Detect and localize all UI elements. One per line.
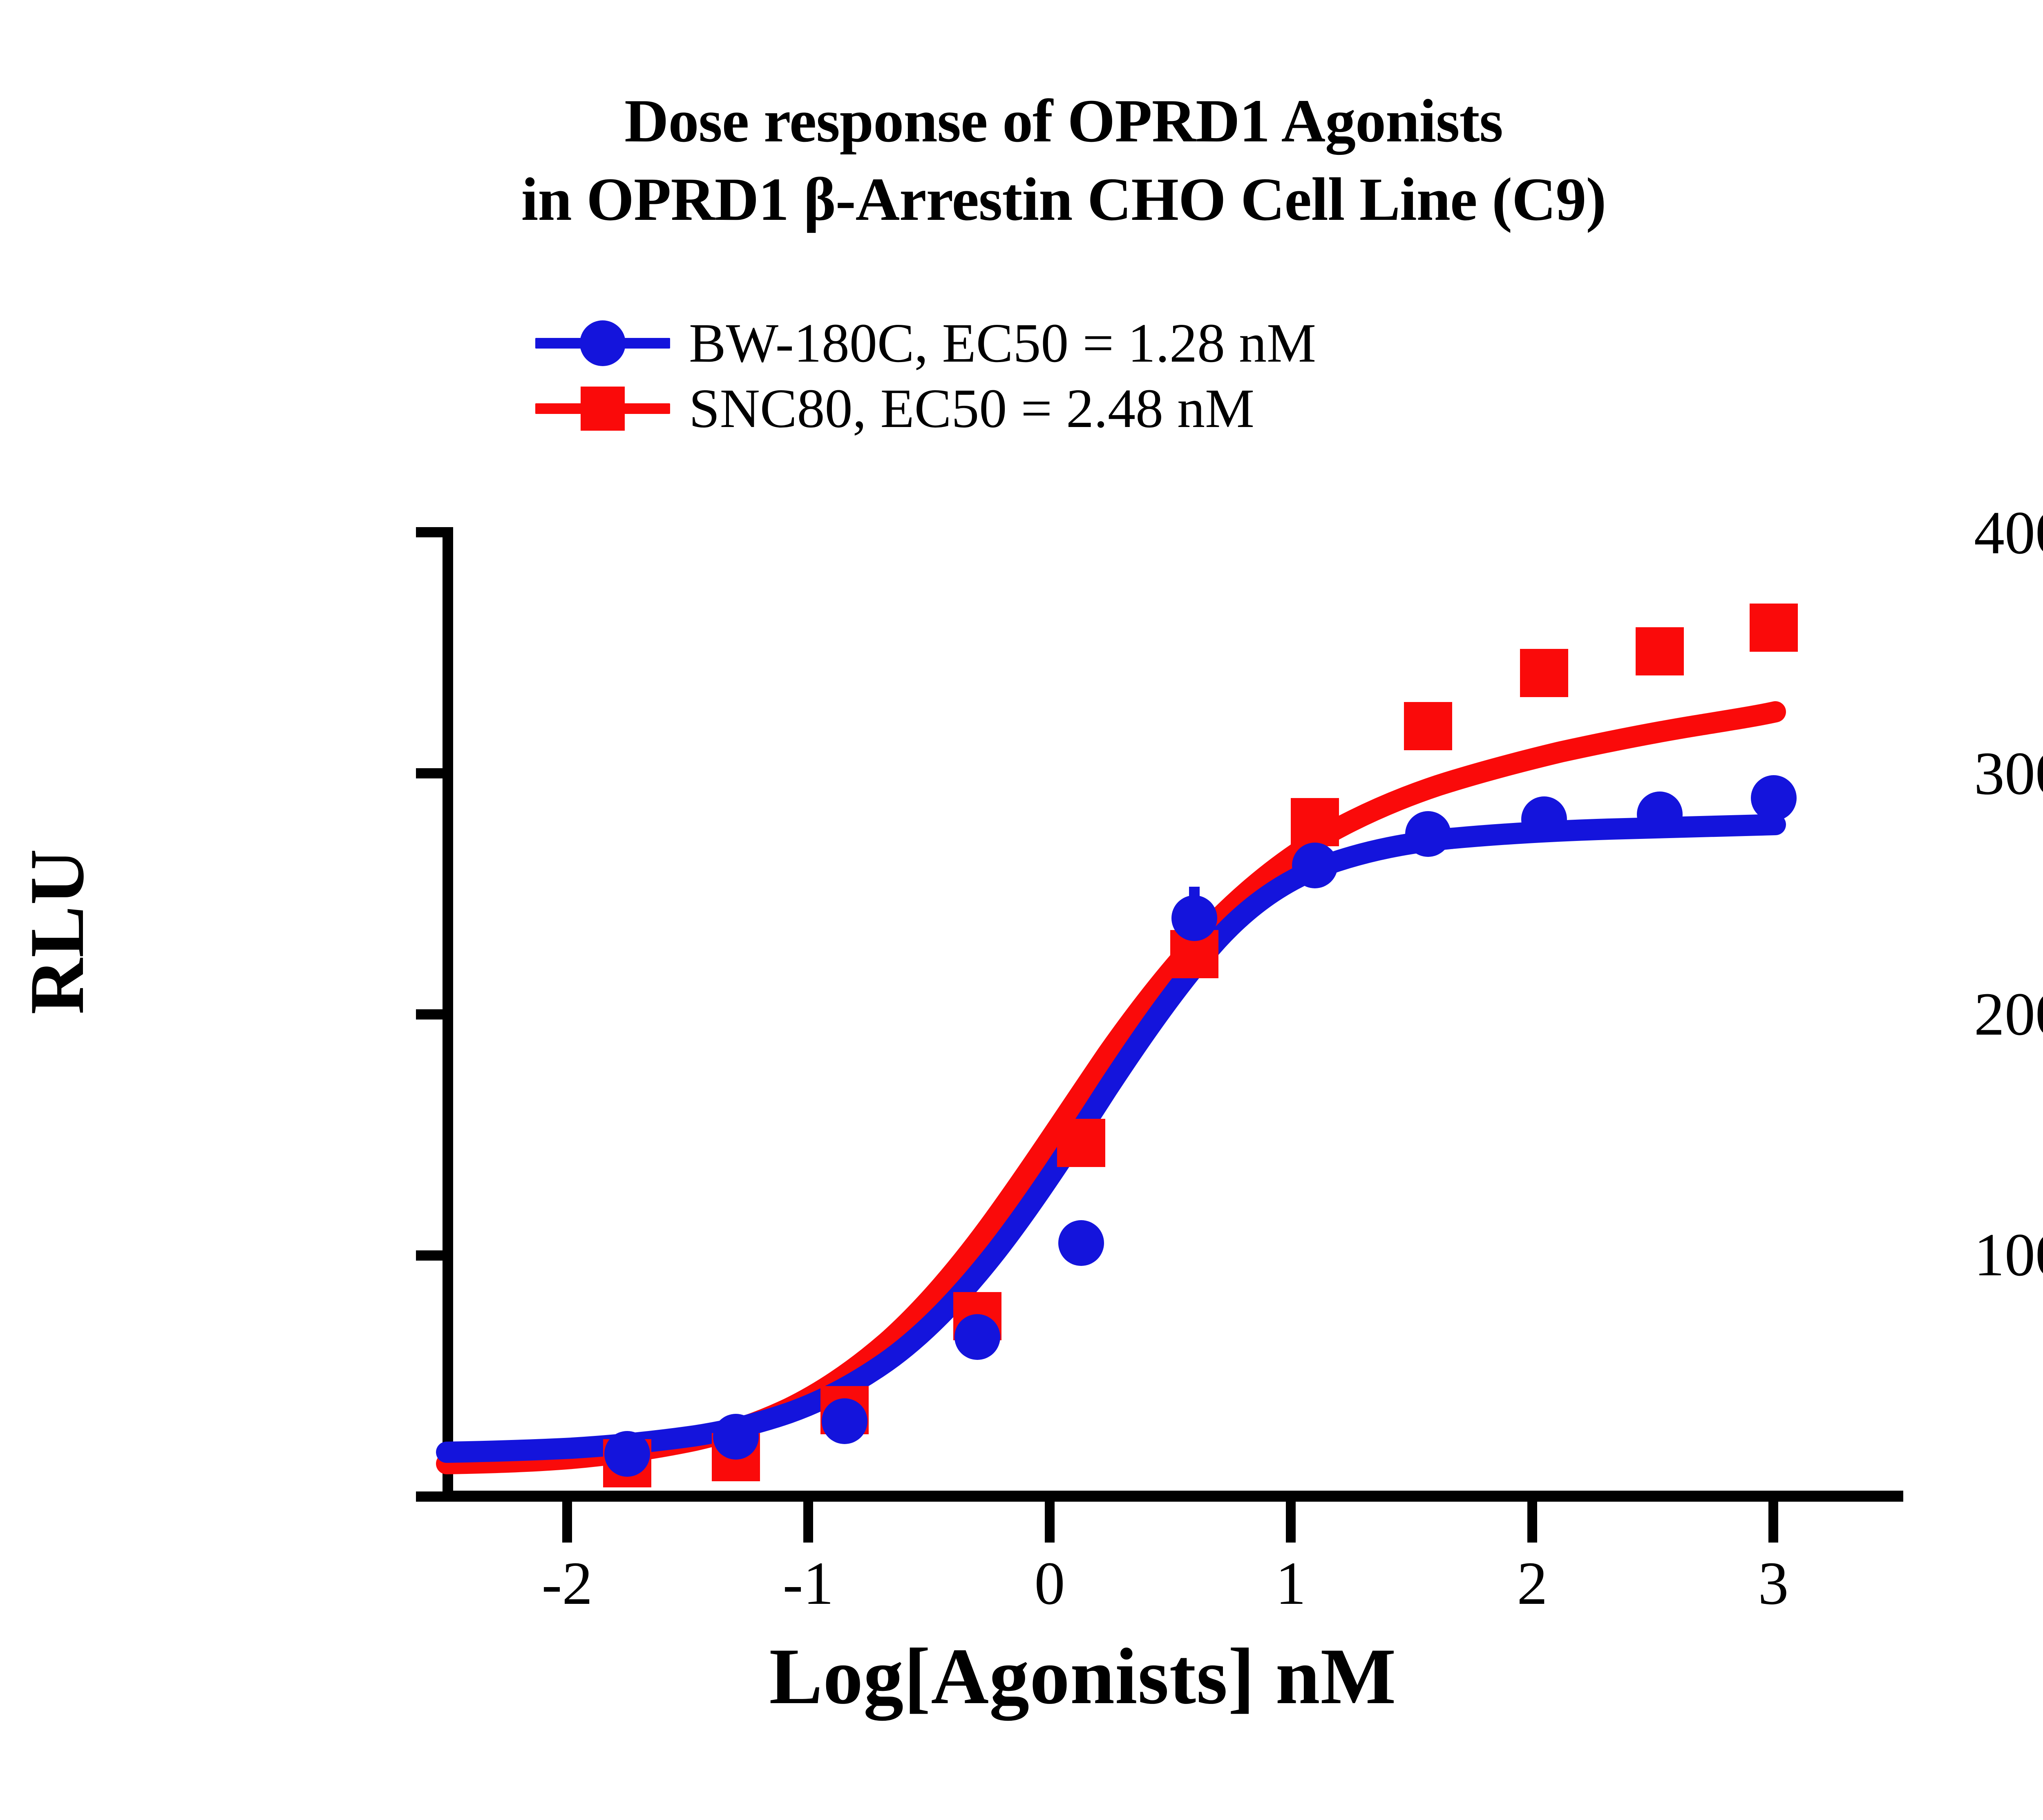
x-axis-line [443,1491,1903,1502]
data-point-marker [822,1398,867,1444]
data-point-marker [713,1414,759,1460]
data-point-marker [1291,798,1339,846]
data-point-marker [1057,1119,1105,1167]
data-point-marker [1750,604,1798,652]
data-point-marker [1292,843,1338,888]
chart-graphics [0,0,2043,1820]
data-point-marker [1637,791,1683,837]
data-point-marker [954,1314,1000,1360]
error-bars-bw180c [627,787,1774,1458]
data-point-marker [1171,895,1217,941]
data-point-marker [1636,627,1684,675]
data-points-bw180c [604,775,1797,1477]
data-point-marker [1404,702,1452,750]
data-point-marker [604,1431,650,1477]
y-axis-ticks [416,527,445,1502]
x-axis-ticks [562,1502,1778,1543]
curve-bw180c [447,825,1775,1452]
data-point-marker [1405,811,1451,857]
plot-area: RLU Log[Agonists] nM 0 10000 20000 30000… [0,0,2043,1820]
data-point-marker [1521,796,1567,842]
chart-canvas: Dose response of OPRD1 Agonists in OPRD1… [0,0,2043,1820]
data-point-marker [1520,649,1568,697]
data-point-marker [1751,775,1797,821]
data-point-marker [1058,1220,1104,1266]
